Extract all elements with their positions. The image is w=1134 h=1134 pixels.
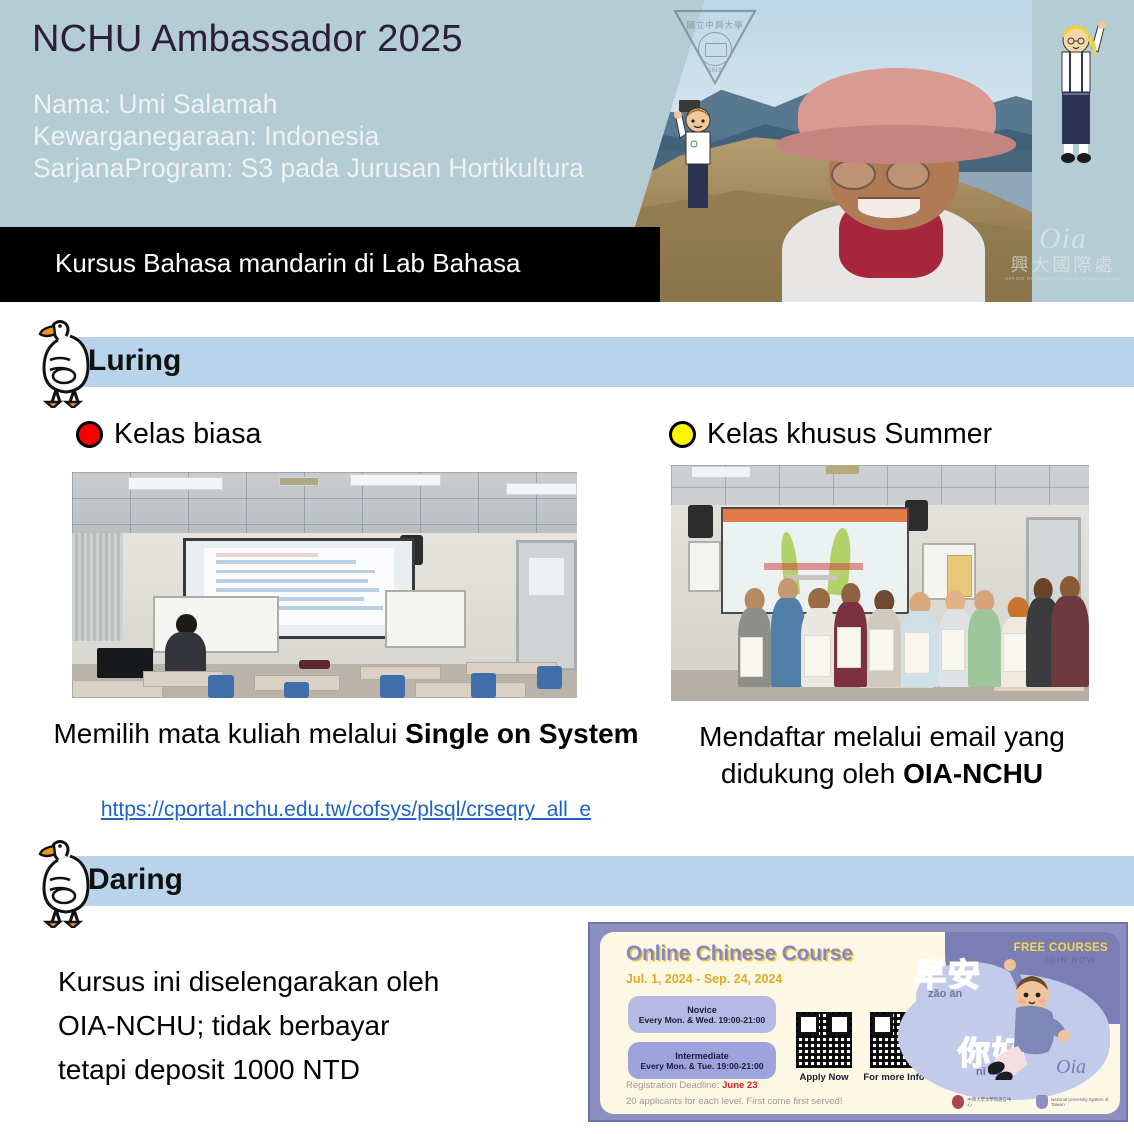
person-3 [801,588,839,687]
qr-label-apply: Apply Now [788,1072,860,1083]
classroom-photo [72,472,577,698]
person-8 [968,590,1001,687]
daring-line-2: OIA-NCHU; tidak berbayar [58,1004,578,1048]
novice-level-schedule: Every Mon. & Wed. 19:00-21:00 [639,1015,765,1025]
group-speaker-left [688,505,713,538]
whiteboard-right [385,590,466,649]
caption-left: Memilih mata kuliah melalui Single on Sy… [36,715,656,752]
cartoon-girl-icon [1048,12,1110,172]
classroom-chair-5 [537,666,562,689]
red-dot-icon [76,421,103,448]
page-title: NCHU Ambassador 2025 [32,18,463,61]
section-band-daring [62,856,1134,906]
poster-deadline: Registration Deadline: June 23 [626,1080,758,1091]
group-whiteboard-left [688,541,721,593]
classroom-chair-1 [208,675,233,698]
classroom-chair-2 [284,682,309,698]
qr-code-apply[interactable] [796,1012,852,1068]
person-11 [1051,576,1089,687]
poster-logo-university-system: National University System of Taiwan [1036,1095,1120,1109]
oia-logo-word: Oia [1000,224,1126,254]
nchu-triangle-logo: 國立中興大學 1919 [672,8,758,86]
section-label-daring: Daring [88,863,183,897]
classroom-door [516,540,577,671]
oia-logo-chinese: 興大國際處 [1000,254,1126,276]
daring-line-3: tetapi deposit 1000 NTD [58,1048,578,1092]
caption-left-bold: Single on System [405,718,638,749]
poster-footer-logos: 中興大學文學院語言中心 National University System o… [952,1095,1120,1109]
classroom-chair-3 [380,675,405,698]
photo-person-hat-brim [777,125,1017,163]
poster-note: 20 applicants for each level. First come… [626,1096,842,1107]
goose-icon [30,838,100,928]
nchu-logo-text: 國立中興大學 [672,19,758,31]
door-window [529,558,564,596]
oia-logo: Oia 興大國際處 OFFICE OF INTERNATIONAL AFFAIR… [1000,224,1126,281]
classroom-curtain [72,533,123,641]
group-slide-header [723,509,907,521]
ceiling-light-3 [506,483,577,494]
poster-illustration-panel: FREE COURSES JOIN NOW 早安 zǎo ān 你好 nǐ hǎ… [892,932,1120,1114]
nchu-logo-year: 1919 [672,68,758,74]
caption-right: Mendaftar melalui email yang didukung ol… [672,718,1092,792]
poster-dates: Jul. 1, 2024 - Sep. 24, 2024 [626,972,782,986]
language-center-logo-icon [952,1095,964,1109]
poster-level-intermediate: Intermediate Every Mon. & Tue. 19:00-21:… [628,1042,776,1079]
classroom-chair-4 [471,673,496,698]
caption-left-plain: Memilih mata kuliah melalui [53,718,405,749]
poster-pinyin-zaoan: zǎo ān [928,988,962,1000]
section-label-luring: Luring [88,344,181,378]
novice-level-name: Novice [687,1005,717,1015]
section-band-luring [62,337,1134,387]
caption-right-bold: OIA-NCHU [903,758,1043,789]
intermediate-level-schedule: Every Mon. & Tue. 19:00-21:00 [640,1061,763,1071]
online-course-poster: Online Chinese Course Jul. 1, 2024 - Sep… [588,922,1128,1122]
cartoon-boy-icon [672,92,724,212]
poster-title: Online Chinese Course [626,942,853,966]
bullet-kelas-biasa: Kelas biasa [76,418,261,451]
group-photo [671,465,1089,701]
person-1 [738,588,771,687]
bullet-kelas-khusus: Kelas khusus Summer [669,418,992,451]
poster-deadline-label: Registration Deadline: [626,1080,722,1091]
slide-canvas: 國立中興大學 1919 [0,0,1134,1134]
ceiling-light-1 [128,477,224,491]
oia-logo-subtitle: OFFICE OF INTERNATIONAL AFFAIRS NCHU [1000,276,1126,281]
person-5 [867,590,900,687]
slide-title-cn [764,563,863,570]
profile-line-name: Nama: Umi Salamah [33,88,653,120]
bag-on-desk [299,660,329,669]
header-banner: 國立中興大學 1919 [0,0,1134,302]
course-portal-link[interactable]: https://cportal.nchu.edu.tw/cofsys/plsql… [36,798,656,822]
ceiling-vent [279,477,319,486]
person-4 [834,583,867,687]
profile-line-program: SarjanaProgram: S3 pada Jurusan Hortikul… [33,152,653,184]
photo-person [772,63,1032,302]
poster-logo-language-center: 中興大學文學院語言中心 [952,1095,1014,1109]
person-6 [901,592,939,686]
poster-inner-card: Online Chinese Course Jul. 1, 2024 - Sep… [600,932,1120,1114]
nchu-seal-icon [698,32,732,66]
profile-details: Nama: Umi Salamah Kewarganegaraan: Indon… [33,88,653,184]
daring-body-text: Kursus ini diselengarakan oleh OIA-NCHU;… [58,960,578,1092]
poster-deadline-value: June 23 [722,1080,757,1091]
university-system-logo-icon [1036,1095,1048,1109]
bullet-label-kelas-biasa: Kelas biasa [114,418,261,451]
intermediate-level-name: Intermediate [675,1051,729,1061]
ceiling-light-2 [350,474,441,485]
group-ceiling-vent [826,465,859,474]
goose-icon [30,318,100,408]
daring-line-1: Kursus ini diselengarakan oleh [58,960,578,1004]
yellow-dot-icon [669,421,696,448]
subtitle-text: Kursus Bahasa mandarin di Lab Bahasa [55,248,520,279]
poster-oia-mark: Oia [1056,1056,1086,1079]
poster-logo-label-1: 中興大學文學院語言中心 [967,1097,1013,1108]
poster-level-novice: Novice Every Mon. & Wed. 19:00-21:00 [628,996,776,1033]
bullet-label-kelas-khusus: Kelas khusus Summer [707,418,992,451]
poster-logo-label-2: National University System of Taiwan [1051,1097,1120,1108]
profile-line-nationality: Kewarganegaraan: Indonesia [33,120,653,152]
group-ceiling-light-1 [692,467,751,476]
